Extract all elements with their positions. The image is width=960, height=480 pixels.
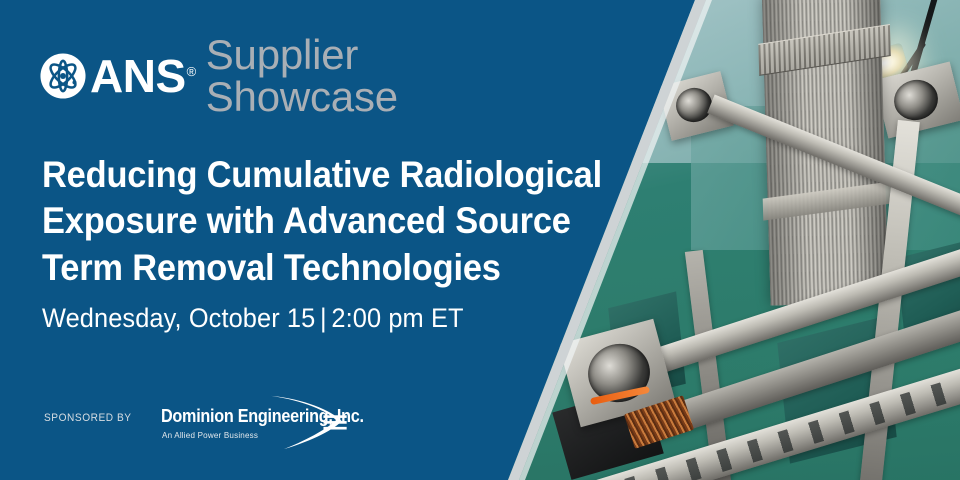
- supplier-showcase-banner: ANS® Supplier Showcase Reducing Cumulati…: [0, 0, 960, 480]
- sponsor-logo: Dominion Engineering, Inc. An Allied Pow…: [161, 404, 329, 452]
- event-date: Wednesday, October 15: [42, 303, 315, 333]
- brand-text: ANS: [90, 50, 186, 102]
- event-time: 2:00 pm ET: [331, 303, 463, 333]
- title-line-1: Reducing Cumulative Radiological: [42, 152, 535, 198]
- program-name: Supplier Showcase: [206, 34, 560, 118]
- page-title: Reducing Cumulative Radiological Exposur…: [42, 152, 535, 291]
- registered-trademark-icon: ®: [187, 64, 196, 79]
- title-line-3: Term Removal Technologies: [42, 245, 535, 291]
- ans-atom-logo-icon: [40, 53, 86, 99]
- content-panel: ANS® Supplier Showcase Reducing Cumulati…: [0, 0, 560, 480]
- datetime-separator: |: [315, 303, 331, 333]
- sponsor-company-name: Dominion Engineering, Inc.: [161, 407, 364, 425]
- title-line-2: Exposure with Advanced Source: [42, 198, 535, 244]
- sponsor-tagline: An Allied Power Business: [162, 430, 258, 440]
- sponsor-block: SPONSORED BY Dominion Engineering, Inc. …: [44, 404, 329, 452]
- sponsored-by-label: SPONSORED BY: [44, 412, 132, 424]
- brand-wordmark: ANS®: [90, 53, 196, 99]
- event-datetime: Wednesday, October 15|2:00 pm ET: [42, 303, 464, 334]
- brand-lockup: ANS® Supplier Showcase: [40, 34, 560, 118]
